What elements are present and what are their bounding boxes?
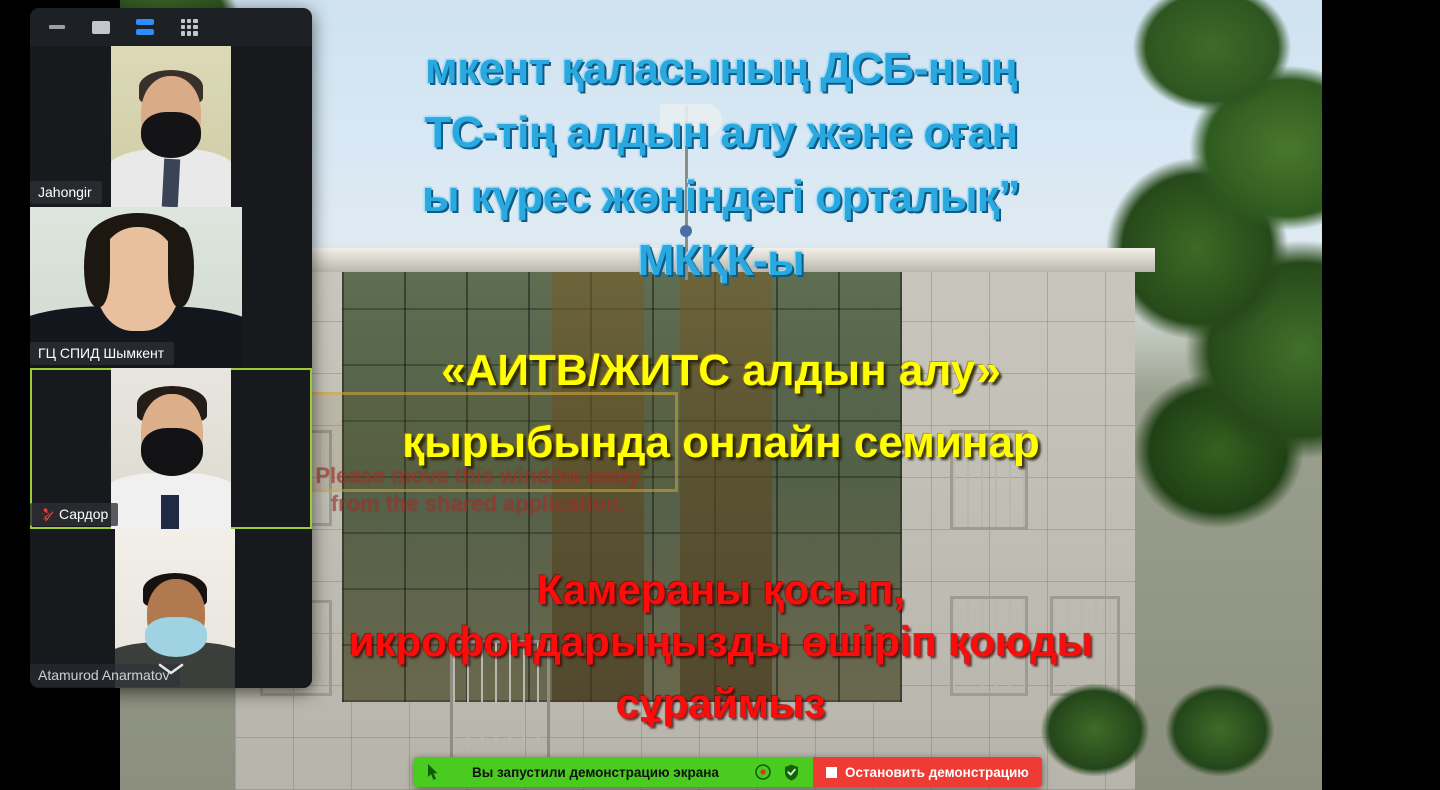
participant-name: ГЦ СПИД Шымкент	[38, 345, 164, 361]
letterbox-right	[1322, 0, 1440, 790]
share-pointer-icon	[425, 763, 440, 781]
security-shield-icon[interactable]	[784, 764, 799, 781]
participant-tile[interactable]: Jahongir	[30, 46, 312, 207]
video-feed	[111, 46, 231, 207]
participant-tile[interactable]: ГЦ СПИД Шымкент	[30, 207, 312, 368]
slide-red-line-3: сұраймыз	[120, 682, 1322, 726]
share-status-text: Вы запустили демонстрацию экрана	[450, 765, 755, 780]
maximize-button[interactable]	[90, 16, 112, 38]
participant-name-badge: Сардор	[30, 503, 118, 526]
maximize-icon	[92, 21, 110, 34]
participant-name: Atamurod Anarmatov	[38, 667, 170, 683]
participant-video-panel[interactable]: Jahongir ГЦ СПИД Шымкент	[30, 8, 312, 688]
participant-tiles[interactable]: Jahongir ГЦ СПИД Шымкент	[30, 46, 312, 688]
stop-share-label: Остановить демонстрацию	[845, 765, 1029, 780]
speaker-view-button[interactable]	[134, 16, 156, 38]
screen-root: Please move this window away from the sh…	[0, 0, 1440, 790]
share-pointer-button[interactable]	[414, 763, 450, 781]
participant-name: Jahongir	[38, 184, 92, 200]
participant-name-badge: Jahongir	[30, 181, 102, 204]
participant-name-badge: ГЦ СПИД Шымкент	[30, 342, 174, 365]
participant-tile[interactable]: Сардор	[30, 368, 312, 529]
screen-share-toolbar[interactable]: Вы запустили демонстрацию экрана Останов…	[414, 757, 1042, 787]
microphone-muted-icon	[38, 506, 53, 522]
minimize-icon	[49, 25, 65, 29]
gallery-view-button[interactable]	[178, 16, 200, 38]
speaker-view-icon	[136, 19, 154, 35]
participant-tile[interactable]: Atamurod Anarmatov	[30, 529, 312, 688]
share-status-group: Вы запустили демонстрацию экрана	[414, 757, 813, 787]
video-window-titlebar	[30, 8, 312, 46]
share-toolbar-icons[interactable]	[755, 764, 813, 781]
participant-name: Сардор	[59, 506, 108, 522]
chevron-down-icon[interactable]	[158, 662, 184, 676]
stop-share-button[interactable]: Остановить демонстрацию	[813, 757, 1042, 787]
minimize-button[interactable]	[46, 16, 68, 38]
video-feed	[111, 368, 231, 529]
stop-square-icon	[826, 767, 837, 778]
gallery-view-icon	[181, 19, 198, 36]
record-icon[interactable]	[755, 764, 771, 780]
